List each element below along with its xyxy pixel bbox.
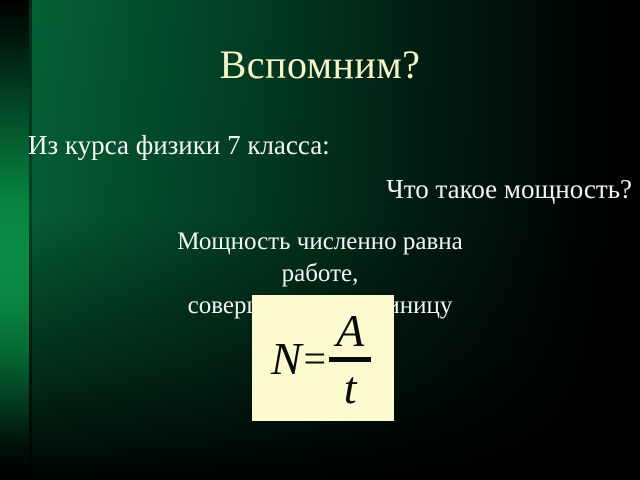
question-line: Что такое мощность? [386,172,632,206]
formula-callout-box: N = A t [252,295,394,421]
formula-fraction: A t [329,308,371,409]
formula-denominator: t [337,365,364,410]
source-reference-line: Из курса физики 7 класса: [28,128,330,162]
definition-line-2: работе, [70,258,570,290]
definition-line-1: Мощность численно равна [70,226,570,258]
presentation-slide: Вспомним? Из курса физики 7 класса: Что … [0,0,640,480]
formula-equals-sign: = [304,339,327,379]
slide-title: Вспомним? [0,42,640,88]
power-formula: N = A t [252,295,394,421]
formula-lhs-symbol: N [271,336,302,382]
formula-numerator: A [329,308,371,353]
